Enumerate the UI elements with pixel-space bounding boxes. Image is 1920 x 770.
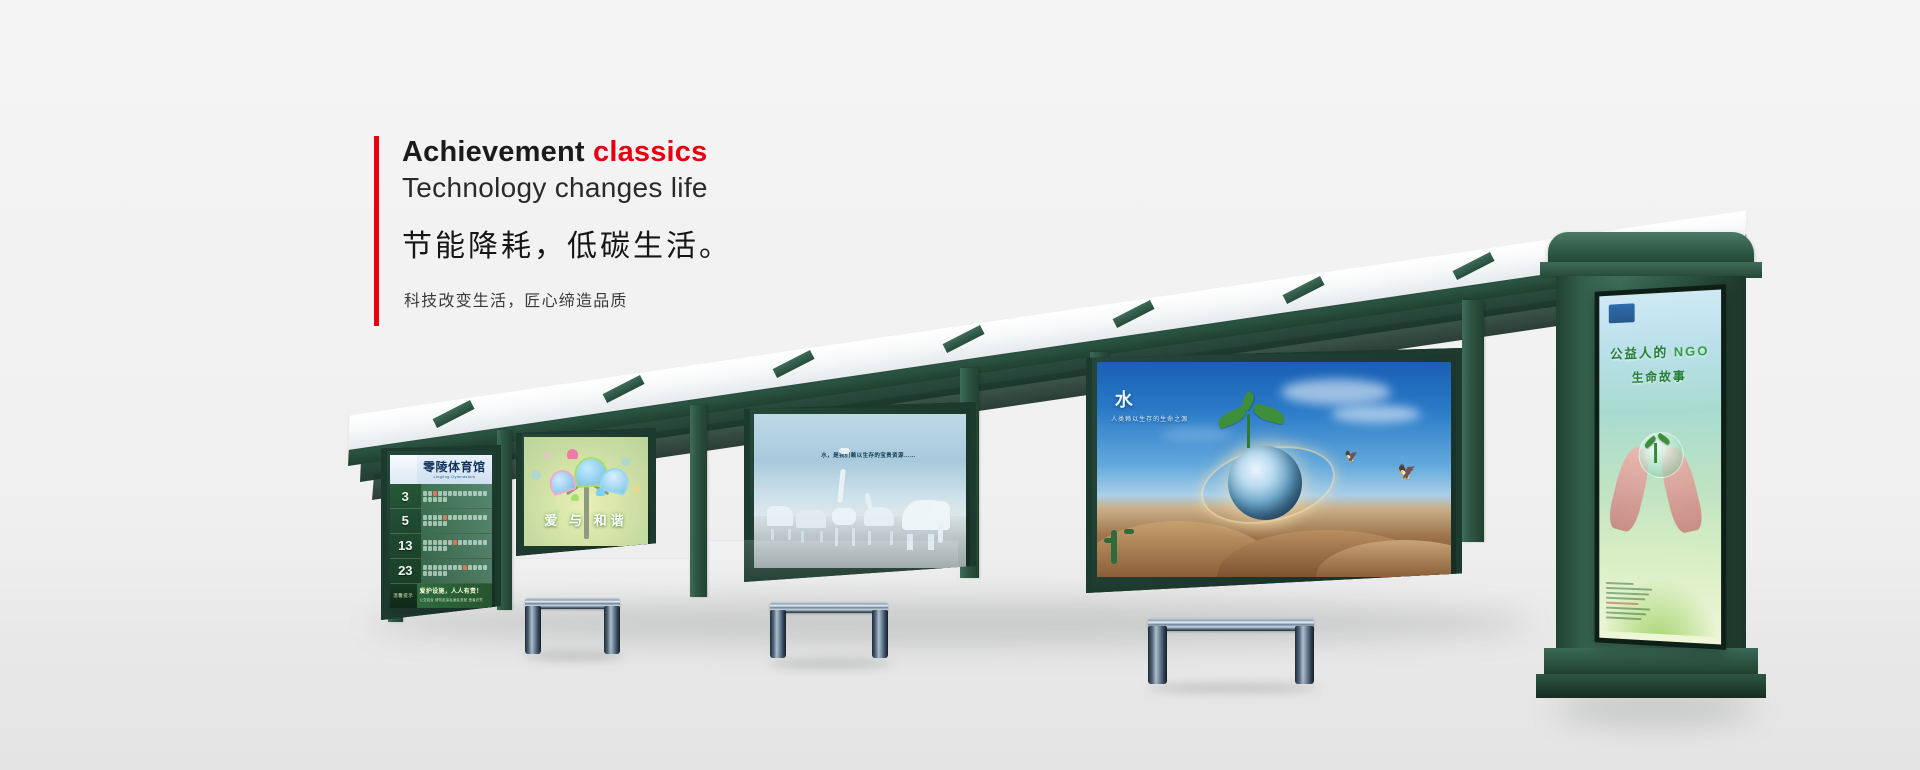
bench-leg xyxy=(604,606,620,654)
earth-poster-cabinet: 🦅 🦅 水 人类赖以生存的生命之源 xyxy=(1086,348,1462,593)
headline-block: Achievement classics Technology changes … xyxy=(374,136,934,311)
animal-giraffe-body xyxy=(832,508,856,525)
animal-camel xyxy=(864,507,894,526)
safety-note: 公交站台 请勿乱涂乱画乱张贴 违者必究 xyxy=(420,597,489,602)
support-post-6 xyxy=(1462,300,1484,542)
timetable-route-rows: 3 5 13 xyxy=(390,484,492,583)
bench-3 xyxy=(1148,618,1314,690)
bubble-decor xyxy=(621,457,630,466)
cactus-icon xyxy=(1104,538,1114,543)
love-poster-cabinet: 爱 与 和谐 xyxy=(516,428,656,556)
accent-bar xyxy=(374,136,379,326)
timetable-row[interactable]: 23 xyxy=(390,559,492,584)
support-post-3 xyxy=(690,405,707,597)
cactus-icon xyxy=(1124,529,1134,534)
pylon-cap xyxy=(1548,232,1754,266)
sprout-stem xyxy=(1247,414,1250,448)
timetable-footer-label: 温馨提示 xyxy=(390,584,417,608)
route-number: 13 xyxy=(390,534,421,558)
bubble-decor xyxy=(633,485,641,493)
earth-poster-screen[interactable]: 🦅 🦅 水 人类赖以生存的生命之源 xyxy=(1097,362,1451,577)
bubble-decor xyxy=(531,470,541,480)
ngo-logo-icon xyxy=(1609,303,1635,323)
animal-giraffe-neck xyxy=(837,469,846,503)
love-poster-artwork: 爱 与 和谐 xyxy=(524,437,648,546)
bench-shadow xyxy=(1146,684,1320,692)
animal-camel-neck xyxy=(865,493,873,510)
earth-poster-subtitle: 人类赖以生存的生命之源 xyxy=(1111,414,1188,423)
headline-accent-text: classics xyxy=(593,136,708,168)
earth-poster-title: 水 xyxy=(1115,386,1133,412)
bench-seat xyxy=(770,602,888,613)
route-stop-list xyxy=(421,484,492,508)
headline-main-text: Achievement xyxy=(402,136,593,168)
timetable-footer-notice: 爱护设施，人人有责！ 公交站台 请勿乱涂乱画乱张贴 违者必究 xyxy=(417,584,492,608)
earth-globe xyxy=(1228,446,1302,520)
timetable-cabinet: 零陵体育馆 Lingling Gymnasium 3 5 xyxy=(381,445,501,620)
bench-1 xyxy=(525,598,620,656)
bench-leg xyxy=(1295,626,1314,684)
timetable-row[interactable]: 3 xyxy=(390,484,492,509)
love-poster-text: 爱 与 和谐 xyxy=(524,510,648,529)
headline-line-3: 节能降耗，低碳生活。 xyxy=(402,221,934,265)
bench-leg xyxy=(525,606,541,654)
cloud-decor xyxy=(1281,379,1391,405)
timetable-header: 零陵体育馆 Lingling Gymnasium xyxy=(390,455,492,484)
route-stop-list xyxy=(421,509,492,533)
bench-seat xyxy=(1148,618,1314,631)
animal-horse-leg xyxy=(788,529,791,540)
headline-line-1: Achievement classics xyxy=(402,136,934,168)
safety-slogan: 爱护设施，人人有责！ xyxy=(420,586,489,595)
bubble-decor xyxy=(544,452,551,459)
timetable-screen[interactable]: 零陵体育馆 Lingling Gymnasium 3 5 xyxy=(390,455,492,608)
sprout-leaf xyxy=(1252,403,1286,424)
ngo-lightbox-screen[interactable]: 公益人的 NGO 生命故事 xyxy=(1595,284,1727,650)
timetable-row[interactable]: 5 xyxy=(390,509,492,534)
route-stop-list xyxy=(421,559,492,583)
headline-line-4: 科技改变生活，匠心缔造品质 xyxy=(404,287,934,311)
heart-icon xyxy=(571,494,579,501)
animal-horse-leg xyxy=(771,529,774,540)
pylon-structure: 公益人的 NGO 生命故事 xyxy=(1556,232,1746,712)
station-name-en: Lingling Gymnasium xyxy=(417,475,492,479)
animal-elephant-head xyxy=(932,501,950,519)
bench-leg xyxy=(1148,626,1167,684)
timetable-footer: 温馨提示 爱护设施，人人有责！ 公交站台 请勿乱涂乱画乱张贴 违者必究 xyxy=(390,584,492,608)
timetable-board: 零陵体育馆 Lingling Gymnasium 3 5 xyxy=(390,455,492,608)
love-poster-screen[interactable]: 爱 与 和谐 xyxy=(524,437,648,546)
ngo-headline-1: 公益人的 NGO xyxy=(1606,340,1713,363)
timetable-row[interactable]: 13 xyxy=(390,534,492,559)
animal-giraffe-head xyxy=(839,448,850,454)
pylon-footing xyxy=(1536,674,1766,698)
product-showcase-scene: Achievement classics Technology changes … xyxy=(0,0,1920,770)
cactus-icon xyxy=(1111,530,1117,564)
headline-line-2: Technology changes life xyxy=(402,170,934,205)
bench-leg xyxy=(770,610,786,658)
sprout-leaf xyxy=(1216,406,1249,429)
route-stop-list xyxy=(421,534,492,558)
earth-poster-artwork: 🦅 🦅 水 人类赖以生存的生命之源 xyxy=(1097,362,1451,577)
animal-horse xyxy=(767,506,793,526)
bench-shadow xyxy=(524,652,624,660)
glass-panel xyxy=(708,540,958,590)
bird-icon: 🦅 xyxy=(1398,465,1417,480)
animal-lion xyxy=(796,510,826,528)
ngo-headline-2: 生命故事 xyxy=(1606,366,1713,386)
ngo-headline-cn: 公益人的 xyxy=(1610,344,1668,361)
sprout-icon xyxy=(1654,443,1657,463)
bench-2 xyxy=(770,602,888,664)
timetable-station-title: 零陵体育馆 Lingling Gymnasium xyxy=(417,461,492,479)
route-number: 5 xyxy=(390,509,421,533)
pylon-vents xyxy=(1568,304,1584,604)
ngo-body-text xyxy=(1606,582,1656,624)
route-number: 23 xyxy=(390,559,421,583)
station-name-cn: 零陵体育馆 xyxy=(423,460,486,474)
timetable-header-logo-block xyxy=(390,455,417,484)
drought-caption: 水，是我们赖以生存的宝贵资源…… xyxy=(801,451,937,459)
heart-icon xyxy=(596,488,605,496)
ngo-poster-artwork: 公益人的 NGO 生命故事 xyxy=(1599,290,1721,645)
bench-leg xyxy=(872,610,888,658)
cloud-decor xyxy=(1331,405,1421,423)
bench-shadow xyxy=(768,660,892,668)
bird-icon: 🦅 xyxy=(1345,452,1359,463)
heart-icon xyxy=(567,449,578,459)
route-number: 3 xyxy=(390,484,421,508)
ngo-headline-en: NGO xyxy=(1674,343,1710,359)
